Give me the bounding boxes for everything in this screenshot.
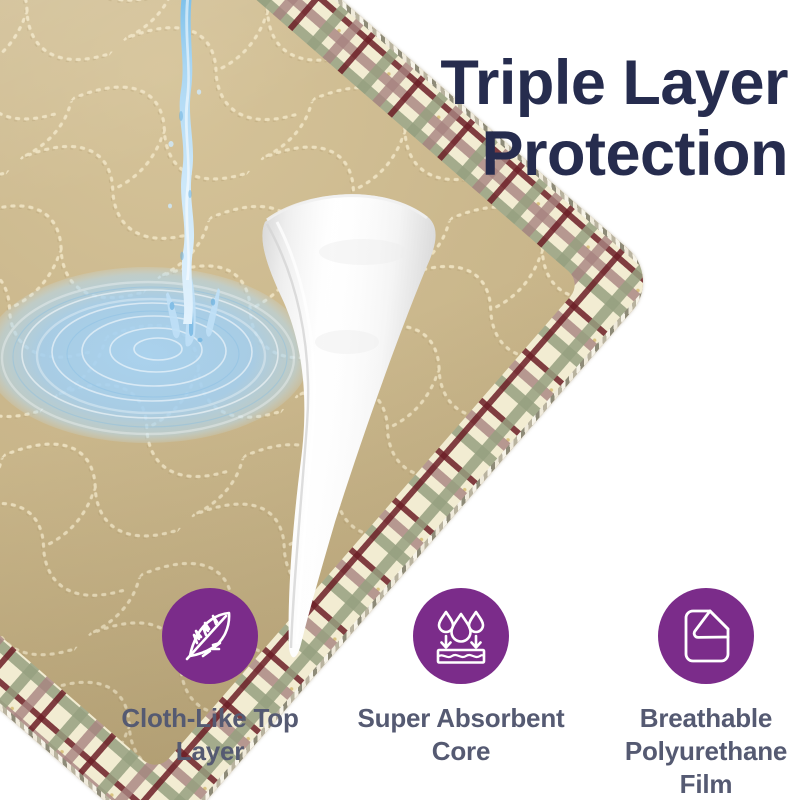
feature-label-line-1: Cloth-Like Top	[121, 703, 298, 733]
product-feature-graphic: Triple Layer Protection	[0, 0, 800, 800]
feature-label-line-2: Polyurethane	[625, 736, 787, 766]
feature-item-breathable-polyurethane-film: Breathable Polyurethane Film	[581, 588, 800, 800]
feature-label: Breathable Polyurethane Film	[581, 702, 800, 800]
absorbent-droplets-icon	[429, 604, 493, 668]
feature-label-line-1: Super Absorbent	[358, 703, 565, 733]
feature-label: Cloth-Like Top Layer	[85, 702, 335, 768]
feature-label: Super Absorbent Core	[336, 702, 586, 768]
peeling-film-icon	[677, 605, 735, 667]
feature-label-line-3: Film	[680, 769, 733, 799]
feature-item-cloth-like-top-layer: Cloth-Like Top Layer	[85, 588, 335, 768]
feature-icon-badge	[413, 588, 509, 684]
headline-line-1: Triple Layer	[440, 48, 788, 118]
feature-label-line-2: Layer	[176, 736, 244, 766]
feather-icon	[179, 605, 241, 667]
feature-icon-badge	[658, 588, 754, 684]
feature-label-line-1: Breathable	[640, 703, 772, 733]
page-title: Triple Layer Protection	[268, 48, 788, 189]
headline-line-2: Protection	[268, 119, 788, 190]
feature-icon-badge	[162, 588, 258, 684]
feature-item-super-absorbent-core: Super Absorbent Core	[336, 588, 586, 768]
feature-list: Cloth-Like Top Layer	[0, 588, 800, 800]
feature-label-line-2: Core	[432, 736, 490, 766]
